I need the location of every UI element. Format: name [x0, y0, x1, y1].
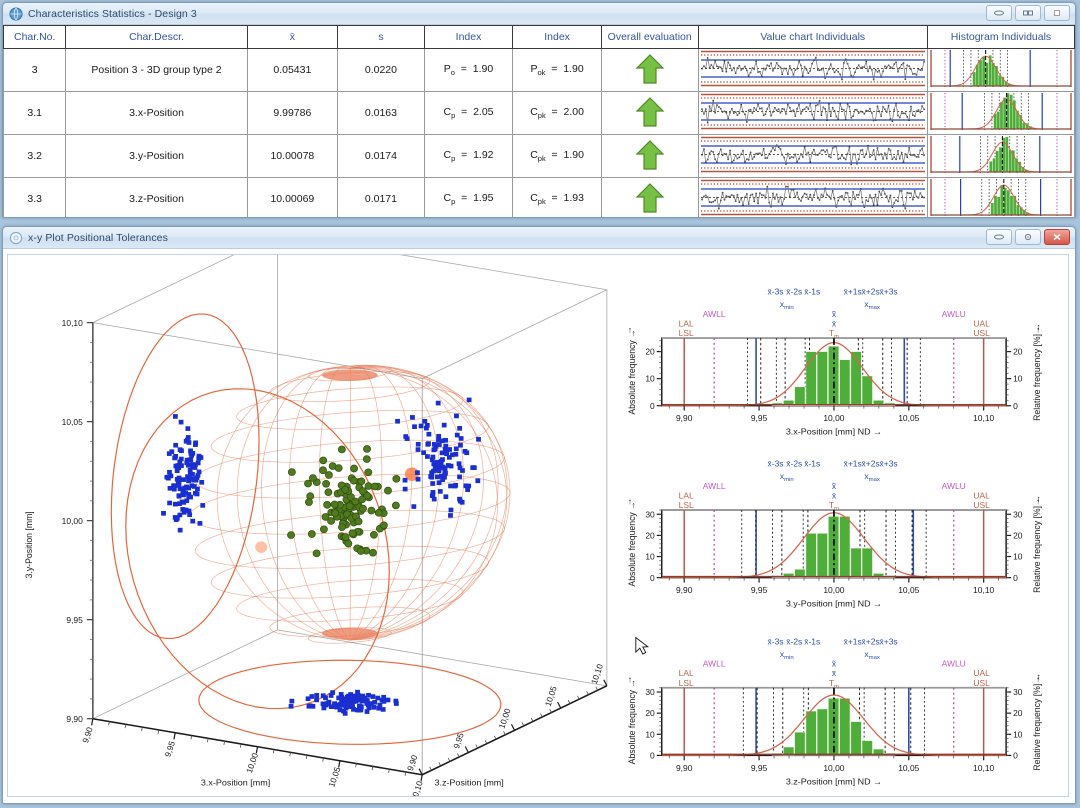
measured-point [369, 549, 376, 556]
projected-point [196, 456, 201, 461]
projected-point [467, 398, 472, 403]
cell-value-chart-individuals [698, 178, 928, 219]
histogram-bar [817, 709, 827, 755]
y-tick-label: 20 [645, 531, 655, 541]
projected-point [422, 419, 427, 424]
projected-point [193, 478, 198, 483]
projected-point [184, 439, 189, 444]
lsl-label: LSL [679, 678, 694, 688]
y2-axis-label: Relative frequency [%] → [1032, 673, 1042, 771]
table-row[interactable]: 3.23.y-Position10.000780.0174Cp = 1.92Cp… [4, 135, 1075, 178]
y-tick-label: 30 [645, 687, 655, 697]
projected-point [196, 461, 201, 466]
projected-point [403, 434, 408, 439]
close-icon[interactable] [1044, 5, 1070, 21]
projected-point [366, 693, 371, 698]
projected-point [395, 419, 400, 424]
y2-axis-arrow: ↑ [1036, 324, 1040, 334]
awll-label: AWLL [703, 659, 726, 669]
projected-point [180, 507, 185, 512]
projected-point [356, 694, 361, 699]
column-header-index-1[interactable]: Index [424, 26, 513, 49]
measured-point [350, 465, 357, 472]
sigma-label: x̄+1s [844, 287, 862, 297]
cell-index-1: Cp = 1.92 [424, 135, 513, 178]
x-tick-label: 10,00 [823, 585, 845, 595]
x-tick-label: 9,90 [80, 726, 95, 745]
projected-point [465, 487, 470, 492]
projected-point [177, 493, 182, 498]
x-axis-label: 3.x-Position [mm] ND → [786, 427, 882, 437]
measured-point [349, 530, 356, 537]
measured-point [350, 477, 357, 484]
measured-point [325, 489, 332, 496]
projected-point [455, 433, 460, 438]
projected-point [173, 414, 178, 419]
projected-point [322, 706, 327, 711]
projected-point [184, 498, 189, 503]
y-axis-arrow: ↑ [628, 496, 632, 506]
hist-z-plot[interactable]: 0102030Absolute frequency →0102030Relati… [627, 636, 1042, 786]
statistics-table: Char.No. Char.Descr. x̄ s Index Index Ov… [3, 25, 1075, 218]
measured-point [359, 505, 366, 512]
x-tick-label: 10,00 [823, 413, 845, 423]
cell-value-chart-individuals [698, 135, 928, 178]
projected-point [197, 470, 202, 475]
projected-point [173, 443, 178, 448]
cell-s: 0.0171 [338, 178, 425, 219]
x-tick-label: 10,05 [898, 413, 920, 423]
projected-point [458, 466, 463, 471]
median-label: x̃ [832, 659, 837, 669]
histogram-bar [840, 516, 850, 577]
projected-point [359, 706, 364, 711]
plot-window-title: x-y Plot Positional Tolerances [28, 232, 168, 244]
xmax-label: xmax [864, 471, 880, 483]
projected-point [166, 476, 171, 481]
cell-xbar: 9.99786 [247, 92, 338, 135]
table-row[interactable]: 3.33.z-Position10.000690.0171Cp = 1.95Cp… [4, 178, 1075, 219]
projected-point [186, 494, 191, 499]
column-header-histogram-individuals[interactable]: Histogram Individuals [928, 26, 1075, 49]
projected-point [460, 500, 465, 505]
y-axis-label: Absolute frequency → [627, 679, 637, 764]
ual-label: UAL [973, 668, 990, 678]
cell-char-no: 3 [4, 49, 66, 92]
cell-overall-evaluation [601, 49, 698, 92]
projected-point [347, 697, 352, 702]
cell-xbar: 0.05431 [247, 49, 338, 92]
xy-plot-window: x-y Plot Positional Tolerances 9,909,951… [2, 226, 1076, 804]
minimize-icon[interactable] [986, 229, 1012, 245]
histogram-bar [840, 360, 850, 406]
sigma-label: x̄+3s [880, 636, 898, 646]
y-tick-label: 10 [645, 730, 655, 740]
sigma-label: x̄+2s [862, 287, 880, 297]
cell-index-2: Cpk = 1.93 [513, 178, 602, 219]
projected-point [442, 423, 447, 428]
measured-point [335, 465, 342, 472]
projected-point [424, 426, 429, 431]
projected-point [195, 492, 200, 497]
sigma-label: x̄+3s [880, 459, 898, 469]
column-header-index-2[interactable]: Index [513, 26, 602, 49]
column-header-char-no[interactable]: Char.No. [4, 26, 66, 49]
x-tick-label: 9,95 [751, 413, 768, 423]
cell-index-2: Pok = 1.90 [513, 49, 602, 92]
sigma-label: x̄-1s [804, 636, 820, 646]
measured-point [359, 488, 366, 495]
median-label: x̃ [832, 481, 837, 491]
projected-point [181, 487, 186, 492]
projected-point [161, 511, 166, 516]
measured-point [358, 478, 365, 485]
y2-axis-label: Relative frequency [%] → [1032, 323, 1042, 421]
projected-point [365, 709, 370, 714]
awlu-label: AWLU [942, 659, 966, 669]
column-header-s[interactable]: s [338, 26, 425, 49]
measured-point [342, 486, 349, 493]
median-label: x̃ [832, 309, 837, 319]
projected-point [448, 513, 453, 518]
projected-point [307, 704, 312, 709]
x-tick-label: 10,00 [244, 751, 260, 774]
projected-point [440, 451, 445, 456]
mouse-pointer [636, 638, 648, 654]
table-row[interactable]: 3Position 3 - 3D group type 20.054310.02… [4, 49, 1075, 92]
projected-point [167, 451, 172, 456]
projected-point [449, 508, 454, 513]
projected-point [190, 451, 195, 456]
projected-point [172, 484, 177, 489]
x-tick-label: 9,95 [162, 740, 177, 759]
column-header-value-chart-individuals[interactable]: Value chart Individuals [698, 26, 928, 49]
y2-tick-label: 20 [1013, 347, 1023, 357]
cell-index-1: Cp = 2.05 [424, 92, 513, 135]
projected-point [416, 442, 421, 447]
histogram-bar [795, 732, 805, 755]
projected-point [289, 704, 294, 709]
column-header-char-descr[interactable]: Char.Descr. [66, 26, 247, 49]
y-axis-arrow: ↑ [628, 324, 632, 334]
sigma-label: x̄-1s [804, 459, 820, 469]
cell-char-no: 3.2 [4, 135, 66, 178]
projected-point [200, 503, 205, 508]
measured-point [357, 548, 364, 555]
x-tick-label: 10,10 [409, 779, 425, 796]
cell-char-no: 3.3 [4, 178, 66, 219]
projected-point [476, 437, 481, 442]
measured-point [331, 501, 338, 508]
projected-point [187, 509, 192, 514]
y-tick-label: 9,90 [66, 714, 83, 724]
projected-point [355, 690, 360, 695]
measured-point [309, 475, 316, 482]
usl-label: USL [973, 678, 990, 688]
projected-point [190, 519, 195, 524]
histogram-bar [806, 533, 816, 577]
table-row[interactable]: 3.13.x-Position9.997860.0163Cp = 2.05Cpk… [4, 92, 1075, 135]
measured-point [371, 483, 378, 490]
projected-point [419, 424, 424, 429]
projected-point [430, 492, 435, 497]
projected-point [447, 447, 452, 452]
measured-point [332, 510, 339, 517]
x-tick-label: 10,05 [898, 763, 920, 773]
projected-point [429, 475, 434, 480]
measured-point [320, 526, 327, 533]
x-axis-label: 3.x-Position [mm] [201, 778, 270, 788]
ual-label: UAL [973, 491, 990, 501]
cell-index-2: Cpk = 2.00 [513, 92, 602, 135]
histogram-bar [862, 376, 872, 406]
plot-canvas-area[interactable]: 9,909,9510,0010,0510,103.y-Position [mm]… [7, 254, 1069, 797]
cell-histogram-individuals [928, 178, 1075, 219]
cell-overall-evaluation [601, 135, 698, 178]
measured-point [363, 446, 370, 453]
projected-point [184, 460, 189, 465]
measured-point [313, 550, 320, 557]
projected-point [416, 447, 421, 452]
hist-y-plot[interactable]: 0102030Absolute frequency →0102030Relati… [627, 459, 1042, 609]
close-icon[interactable] [1044, 229, 1070, 245]
projected-point [195, 487, 200, 492]
projected-point [360, 699, 365, 704]
y2-tick-label: 10 [1013, 374, 1023, 384]
sigma-label: x̄-3s [768, 459, 784, 469]
measured-point [355, 518, 362, 525]
cell-overall-evaluation [601, 178, 698, 219]
mean-label: x̄ [832, 319, 837, 329]
projected-point [178, 528, 183, 533]
projected-point [375, 696, 380, 701]
arrow-up-green-icon [602, 182, 698, 217]
x-tick-label: 10,10 [973, 413, 995, 423]
cell-index-2: Cpk = 1.90 [513, 135, 602, 178]
y-tick-label: 20 [645, 708, 655, 718]
projected-point [412, 424, 417, 429]
measured-point [363, 456, 370, 463]
sigma-label: x̄-2s [786, 287, 802, 297]
projected-point [458, 443, 463, 448]
projected-point [411, 504, 416, 509]
projected-point [333, 704, 338, 709]
sigma-label: x̄+3s [880, 287, 898, 297]
projected-point [193, 440, 198, 445]
table-header-row: Char.No. Char.Descr. x̄ s Index Index Ov… [4, 26, 1075, 49]
projected-point [176, 464, 181, 469]
column-header-overall-evaluation[interactable]: Overall evaluation [601, 26, 698, 49]
y-tick-label: 10 [645, 552, 655, 562]
x-tick-label: 10,05 [326, 765, 342, 788]
projected-point [177, 459, 182, 464]
projected-point [173, 502, 178, 507]
projected-point [434, 444, 439, 449]
projected-point [167, 470, 172, 475]
projected-point [436, 401, 441, 406]
projected-point [354, 699, 359, 704]
projected-point [381, 707, 386, 712]
projected-point [343, 711, 348, 716]
projected-point [198, 521, 203, 526]
scatter3d-axes: 9,909,9510,0010,0510,103.y-Position [mm]… [24, 318, 607, 796]
projected-point [430, 481, 435, 486]
projected-point [416, 477, 421, 482]
usl-label: USL [973, 500, 990, 510]
projected-point [442, 471, 447, 476]
projected-point [371, 694, 376, 699]
sigma-label: x̄+1s [844, 459, 862, 469]
histogram-bar [851, 722, 861, 756]
sigma-label: x̄-3s [768, 636, 784, 646]
lsl-label: LSL [679, 500, 694, 510]
y-tick-label: 10,10 [62, 318, 84, 328]
xmin-label: xmin [780, 471, 794, 483]
y-tick-label: 10,05 [62, 417, 84, 427]
measured-point [365, 469, 372, 476]
histogram-bar [817, 352, 827, 406]
xmin-label: xmin [780, 649, 794, 661]
x-tick-label: 9,95 [751, 763, 768, 773]
y2-axis-arrow: ↑ [1036, 496, 1040, 506]
plot-svg-canvas[interactable]: 9,909,9510,0010,0510,103.y-Position [mm]… [8, 255, 1068, 796]
awlu-label: AWLU [942, 309, 966, 319]
sigma-label: x̄-2s [786, 459, 802, 469]
lsl-label: LSL [679, 328, 694, 338]
projected-point [188, 468, 193, 473]
cell-s: 0.0163 [338, 92, 425, 135]
y-tick-label: 9,95 [66, 615, 83, 625]
projected-point [425, 442, 430, 447]
projected-point [443, 467, 448, 472]
x-tick-label: 10,00 [823, 763, 845, 773]
x-tick-label: 10,10 [973, 763, 995, 773]
projected-point [381, 695, 386, 700]
projected-point [329, 693, 334, 698]
y-axis-arrow: ↑ [628, 674, 632, 684]
column-header-xbar[interactable]: x̄ [247, 26, 338, 49]
measured-point [323, 480, 330, 487]
projected-point [435, 461, 440, 466]
projected-point [437, 480, 442, 485]
awll-label: AWLL [703, 481, 726, 491]
lal-label: LAL [679, 668, 694, 678]
cell-s: 0.0220 [338, 49, 425, 92]
x-tick-label: 10,10 [973, 585, 995, 595]
cell-char-descr: Position 3 - 3D group type 2 [66, 49, 247, 92]
stats-window-titlebar[interactable]: Characteristics Statistics - Design 3 [3, 3, 1075, 25]
measured-point [304, 480, 311, 487]
projected-point [440, 457, 445, 462]
characteristics-statistics-window: Characteristics Statistics - Design 3 Ch… [2, 2, 1076, 218]
sigma-label: x̄+2s [862, 636, 880, 646]
measured-point [393, 475, 400, 482]
projected-point [187, 477, 192, 482]
projected-point [326, 701, 331, 706]
lal-label: LAL [679, 491, 694, 501]
z-tick-label: 10,10 [589, 662, 605, 685]
y-axis-label: Absolute frequency → [627, 501, 637, 586]
measured-point [346, 503, 353, 510]
histogram-bar [795, 387, 805, 406]
scatter3d-plot[interactable]: 9,909,9510,0010,0510,103.y-Position [mm]… [24, 255, 607, 796]
arrow-up-green-icon [602, 139, 698, 174]
y-tick-label: 10,00 [62, 516, 84, 526]
histogram-bar [862, 741, 872, 756]
projected-point [314, 698, 319, 703]
cell-histogram-individuals [928, 135, 1075, 178]
y-tick-label: 10 [645, 374, 655, 384]
measured-point [338, 446, 345, 453]
y-tick-label: 0 [650, 751, 655, 761]
z-tick-label: 9,90 [405, 753, 420, 772]
plot-window-titlebar[interactable]: x-y Plot Positional Tolerances [3, 227, 1075, 249]
projected-point [464, 450, 469, 455]
y2-tick-label: 10 [1013, 552, 1023, 562]
projected-point [306, 696, 311, 701]
projected-point [447, 455, 452, 460]
projected-point [415, 470, 420, 475]
y-tick-label: 30 [645, 509, 655, 519]
maximize-icon[interactable] [1015, 5, 1041, 21]
measured-point [288, 469, 295, 476]
projected-point [323, 696, 328, 701]
projected-point [186, 486, 191, 491]
hist-x-plot[interactable]: 01020Absolute frequency →01020Relative f… [627, 287, 1042, 437]
histogram-bar [817, 533, 827, 577]
projected-point [193, 465, 198, 470]
measured-point [325, 471, 332, 478]
projected-point [372, 705, 377, 710]
projected-point [177, 478, 182, 483]
cell-char-descr: 3.y-Position [66, 135, 247, 178]
measured-point [392, 502, 399, 509]
projected-point [403, 487, 408, 492]
maximize-icon[interactable] [1015, 229, 1041, 245]
projected-point [421, 450, 426, 455]
measured-point [370, 531, 377, 538]
projected-point [443, 494, 448, 499]
histogram-bar [851, 548, 861, 578]
minimize-icon[interactable] [986, 5, 1012, 21]
projected-point [167, 501, 172, 506]
stats-window-title: Characteristics Statistics - Design 3 [28, 8, 197, 20]
x-tick-label: 9,95 [751, 585, 768, 595]
cell-overall-evaluation [601, 92, 698, 135]
measured-point [287, 532, 294, 539]
projected-point [454, 414, 459, 419]
x-tick-label: 9,90 [676, 585, 693, 595]
projected-point [475, 478, 480, 483]
cell-value-chart-individuals [698, 92, 928, 135]
z-axis-label: 3.z-Position [mm] [434, 778, 503, 788]
y2-tick-label: 20 [1013, 531, 1023, 541]
sigma-label: x̄-2s [786, 636, 802, 646]
projected-point [314, 693, 319, 698]
projected-point [381, 699, 386, 704]
plot-window-controls [986, 229, 1070, 245]
histogram-bar [806, 711, 816, 755]
y-tick-label: 0 [650, 401, 655, 411]
y2-axis-label: Relative frequency [%] → [1032, 495, 1042, 593]
awlu-label: AWLU [942, 481, 966, 491]
projected-point [177, 501, 182, 506]
projected-point [174, 517, 179, 522]
projected-point [454, 446, 459, 451]
x-axis-label: 3.y-Position [mm] ND → [786, 599, 882, 609]
x-axis-label: 3.z-Position [mm] ND → [786, 777, 882, 787]
projected-point [199, 480, 204, 485]
